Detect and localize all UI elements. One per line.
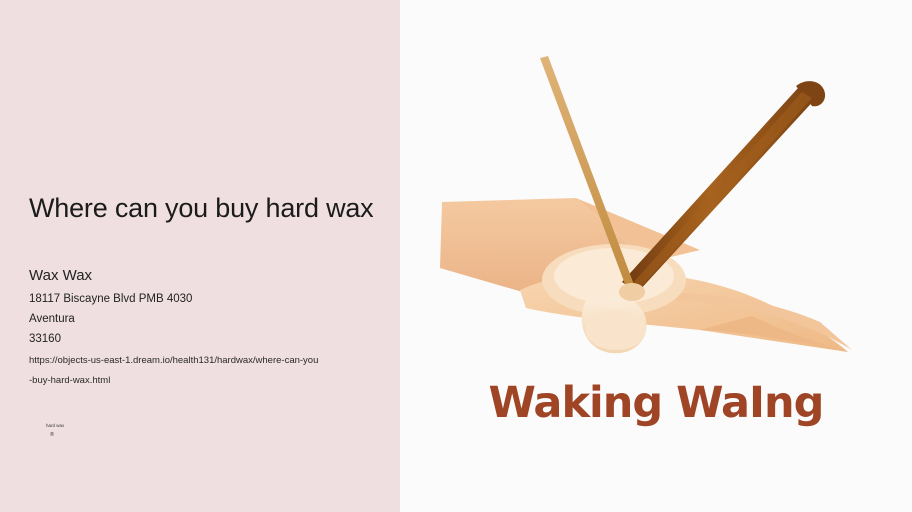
hard-wax-illustration [400, 0, 912, 512]
brand-wordmark: Waking WaIng [400, 378, 912, 428]
brand-name: Wax Wax [29, 267, 92, 284]
page-root: Where can you buy hard wax Wax Wax 18117… [0, 0, 912, 512]
tiny-registered-mark: ® [50, 432, 54, 438]
address-city: Aventura [29, 313, 75, 325]
left-text-panel: Where can you buy hard wax Wax Wax 18117… [0, 0, 400, 512]
wax-drop [619, 283, 645, 301]
tiny-keyword-label: hard wax [46, 423, 64, 428]
page-title: Where can you buy hard wax [29, 192, 389, 225]
address-street: 18117 Biscayne Blvd PMB 4030 [29, 293, 192, 305]
illustration-panel: Waking WaIng [400, 0, 912, 512]
source-url-line-2[interactable]: -buy-hard-wax.html [29, 375, 110, 386]
source-url-line-1[interactable]: https://objects-us-east-1.dream.io/healt… [29, 355, 318, 366]
wooden-applicator-stick [622, 81, 825, 292]
address-zip: 33160 [29, 333, 61, 345]
